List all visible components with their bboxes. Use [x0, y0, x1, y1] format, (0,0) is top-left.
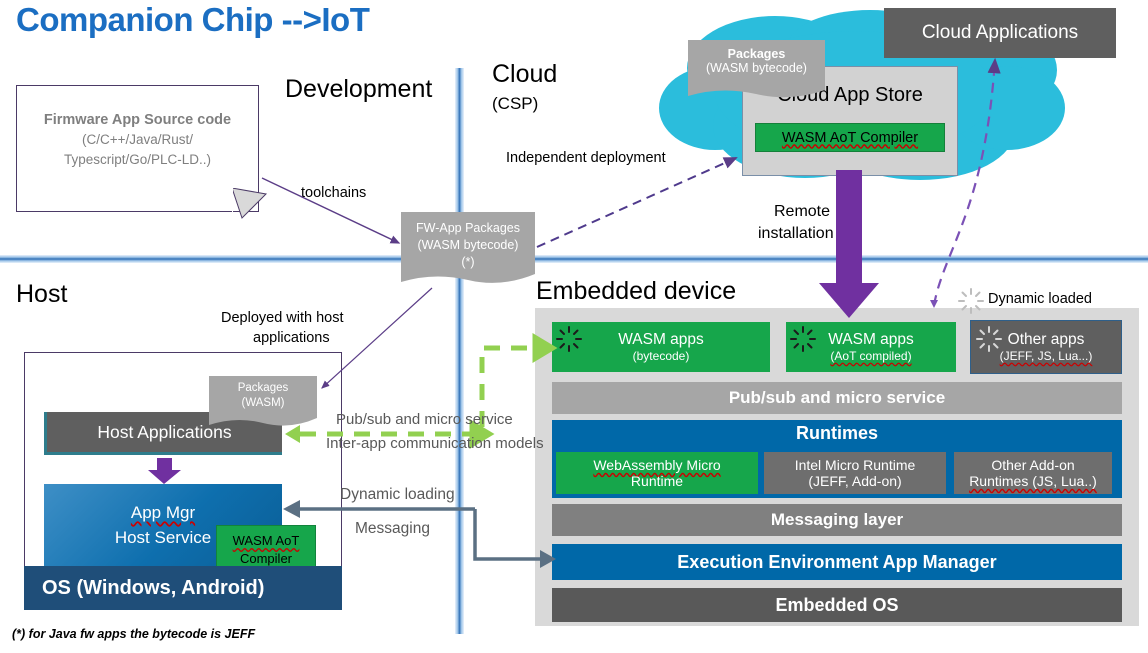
callout-fw-line2: (WASM bytecode): [418, 237, 519, 254]
label-dynamic-loading: Dynamic loading: [340, 486, 455, 504]
host-app-mgr-line1: App Mgr: [44, 500, 282, 525]
embedded-runtime-1-line2: (JEFF, Add-on): [808, 473, 901, 489]
embedded-app-manager-label: Execution Environment App Manager: [677, 552, 996, 573]
callout-cloud-packages-line1: Packages: [728, 47, 786, 61]
embedded-app-wasm-bytecode[interactable]: WASM apps (bytecode): [552, 322, 770, 372]
host-os-label: OS (Windows, Android): [42, 577, 264, 600]
label-deployed-with-host-line1: Deployed with host: [221, 310, 344, 326]
embedded-runtime-1-line1: Intel Micro Runtime: [795, 457, 916, 473]
embedded-runtime-2-line1: Other Add-on: [991, 457, 1074, 473]
embedded-runtime-2-line2: Runtimes (JS, Lua..): [969, 473, 1097, 489]
horizontal-divider-left: [0, 255, 470, 263]
cloud-aot-compiler-label: WASM AoT Compiler: [782, 130, 918, 146]
page-title: Companion Chip -->IoT: [16, 1, 369, 39]
cloud-applications-label: Cloud Applications: [922, 22, 1078, 44]
spinner-icon-app-0: [556, 326, 582, 352]
callout-cloud-packages-line2: (WASM bytecode): [706, 61, 807, 75]
callout-host-packages-line1: Packages: [238, 381, 289, 396]
callout-cloud-packages: Packages (WASM bytecode): [688, 40, 825, 100]
embedded-runtimes-title: Runtimes: [552, 420, 1122, 446]
spinner-icon-app-2: [976, 326, 1002, 352]
host-aot-compiler-box[interactable]: WASM AoT Compiler: [216, 525, 316, 572]
host-aot-line1: WASM AoT: [217, 532, 315, 550]
horizontal-divider-right: [455, 255, 1148, 263]
label-remote-installation-line1: Remote: [774, 203, 830, 221]
embedded-app-0-title: WASM apps: [618, 331, 704, 349]
embedded-runtime-0-line1: WebAssembly Micro: [593, 457, 720, 473]
section-heading-cloud: Cloud: [492, 60, 557, 89]
dynamic-loaded-legend-label: Dynamic loaded: [988, 291, 1092, 307]
label-inter-app-communication: Inter-app communication models: [326, 435, 544, 452]
label-toolchains: toolchains: [301, 185, 366, 201]
footnote: (*) for Java fw apps the bytecode is JEF…: [12, 627, 255, 641]
callout-fw-app-packages: FW-App Packages (WASM bytecode) (*): [401, 212, 535, 286]
callout-host-packages-line2: (WASM): [241, 396, 284, 411]
embedded-os-label: Embedded OS: [775, 595, 898, 616]
spinner-icon-legend: [958, 288, 984, 314]
embedded-app-2-sub: (JEFF, JS, Lua...): [1000, 349, 1093, 363]
firmware-source-line2: (C/C++/Java/Rust/: [17, 130, 258, 150]
callout-fw-line3: (*): [461, 254, 474, 271]
embedded-runtime-other[interactable]: Other Add-on Runtimes (JS, Lua..): [954, 452, 1112, 494]
embedded-pubsub-bar[interactable]: Pub/sub and micro service: [552, 382, 1122, 414]
source-box-pointer: [232, 188, 268, 220]
label-pubsub-micro-service: Pub/sub and micro service: [336, 411, 513, 428]
firmware-source-heading: Firmware App Source code: [17, 110, 258, 130]
firmware-source-code-box: Firmware App Source code (C/C++/Java/Rus…: [16, 85, 259, 212]
embedded-messaging-layer-bar[interactable]: Messaging layer: [552, 504, 1122, 536]
embedded-runtime-intel[interactable]: Intel Micro Runtime (JEFF, Add-on): [764, 452, 946, 494]
embedded-messaging-layer-label: Messaging layer: [771, 510, 903, 530]
section-heading-embedded: Embedded device: [536, 277, 736, 306]
section-heading-host: Host: [16, 280, 67, 309]
label-deployed-with-host-line2: applications: [253, 330, 330, 346]
embedded-pubsub-label: Pub/sub and micro service: [729, 388, 945, 408]
cloud-applications-box[interactable]: Cloud Applications: [884, 8, 1116, 58]
section-heading-cloud-sub: (CSP): [492, 94, 538, 114]
embedded-os-bar[interactable]: Embedded OS: [552, 588, 1122, 622]
embedded-app-1-title: WASM apps: [828, 331, 914, 349]
host-os-box[interactable]: OS (Windows, Android): [24, 566, 342, 610]
embedded-app-2-title: Other apps: [1008, 331, 1085, 349]
callout-host-packages: Packages (WASM): [209, 376, 317, 428]
label-messaging: Messaging: [355, 520, 430, 538]
embedded-app-1-sub: (AoT compiled): [830, 349, 911, 363]
firmware-source-line3: Typescript/Go/PLC-LD..): [17, 150, 258, 170]
embedded-app-0-sub: (bytecode): [633, 349, 690, 363]
label-independent-deployment: Independent deployment: [506, 150, 666, 166]
spinner-icon-app-1: [790, 326, 816, 352]
label-remote-installation-line2: installation: [758, 225, 834, 243]
embedded-runtime-0-line2: Runtime: [631, 473, 683, 489]
callout-fw-line1: FW-App Packages: [416, 220, 520, 237]
cloud-aot-compiler-box[interactable]: WASM AoT Compiler: [755, 123, 945, 152]
embedded-runtime-wamr[interactable]: WebAssembly Micro Runtime: [556, 452, 758, 494]
embedded-app-manager-bar[interactable]: Execution Environment App Manager: [552, 544, 1122, 580]
section-heading-development: Development: [285, 75, 432, 104]
